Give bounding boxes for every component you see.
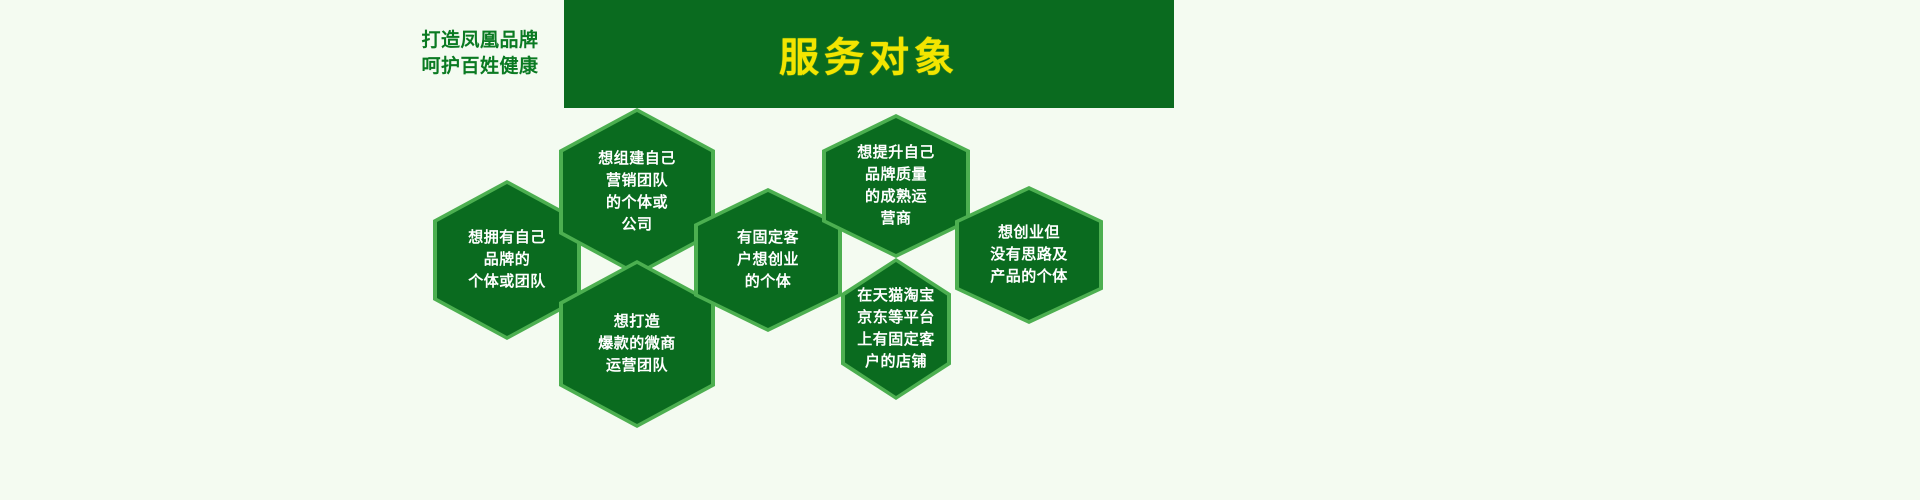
hex-label-7: 想创业但 没有思路及 产品的个体	[990, 222, 1068, 288]
hex-label-3: 想打造 爆款的微商 运营团队	[598, 311, 676, 377]
hex-label-4: 有固定客 户想创业 的个体	[737, 227, 799, 293]
hex-label-6: 在天猫淘宝 京东等平台 上有固定客 户的店铺	[857, 285, 935, 373]
slogan-line-1: 打造凤凰品牌	[421, 28, 538, 54]
page-title: 服务对象	[564, 0, 1174, 108]
hex-label-1: 想拥有自己 品牌的 个体或团队	[468, 227, 546, 293]
slogan-box: 打造凤凰品牌 呵护百姓健康	[396, 0, 564, 108]
slogan-line-2: 呵护百姓健康	[421, 54, 538, 80]
diagram-canvas: 打造凤凰品牌 呵护百姓健康 服务对象 想拥有自己 品牌的 个体或团队 想组建自己…	[0, 0, 1920, 500]
hex-label-5: 想提升自己 品牌质量 的成熟运 营商	[857, 142, 935, 230]
hex-label-2: 想组建自己 营销团队 的个体或 公司	[598, 148, 676, 236]
